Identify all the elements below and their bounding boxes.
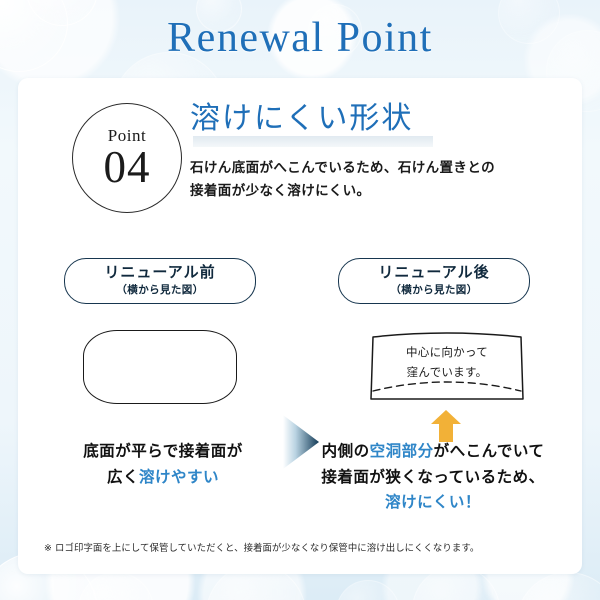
lead-line-1: 石けん底面がへこんでいるため、石けん置きとの bbox=[190, 157, 570, 181]
lead-paragraph: 石けん底面がへこんでいるため、石けん置きとの 接着面が少なく溶けにくい。 bbox=[190, 157, 570, 204]
poster-canvas: Renewal Point Point 04 溶けにくい形状 石けん底面がへこん… bbox=[0, 0, 600, 600]
label-after: リニューアル後 （横から見た図） bbox=[338, 258, 530, 304]
caption-after-plain-b: がへこんでいて bbox=[434, 441, 545, 460]
caption-before-highlight: 溶けやすい bbox=[139, 467, 219, 486]
caption-after-line-3: 溶けにくい！ bbox=[292, 489, 574, 515]
label-after-subtitle: （横から見た図） bbox=[339, 282, 529, 297]
headline-block: 溶けにくい形状 石けん底面がへこんでいるため、石けん置きとの 接着面が少なく溶け… bbox=[190, 100, 570, 204]
footnote: ※ ロゴ印字面を上にして保管していただくと、接着面が少なくなり保管中に溶け出しに… bbox=[44, 542, 564, 555]
soap-new-diagram: 中心に向かって 窪んでいます。 bbox=[369, 329, 525, 403]
label-before: リニューアル前 （横から見た図） bbox=[64, 258, 256, 304]
soap-old-diagram bbox=[83, 330, 237, 404]
caption-after-highlight: 空洞部分 bbox=[370, 441, 434, 460]
caption-before-line-2: 広く溶けやすい bbox=[40, 464, 286, 490]
caption-after: 内側の空洞部分がへこんでいて 接着面が狭くなっているため、 溶けにくい！ bbox=[292, 438, 574, 515]
caption-after-plain-a: 内側の bbox=[322, 441, 370, 460]
point-badge-word: Point bbox=[108, 127, 146, 144]
background-bubble bbox=[78, 572, 154, 600]
soap-new-note-line-2: 窪んでいます。 bbox=[369, 363, 525, 383]
label-before-subtitle: （横から見た図） bbox=[65, 282, 255, 297]
soap-new-note-line-1: 中心に向かって bbox=[369, 343, 525, 363]
headline-underline bbox=[193, 136, 433, 147]
content-card: Point 04 溶けにくい形状 石けん底面がへこんでいるため、石けん置きとの … bbox=[18, 78, 582, 574]
caption-before: 底面が平らで接着面が 広く溶けやすい bbox=[40, 438, 286, 489]
background-bubble bbox=[336, 580, 400, 600]
page-title: Renewal Point bbox=[0, 14, 600, 62]
caption-before-line-1: 底面が平らで接着面が bbox=[40, 438, 286, 464]
caption-after-line-1: 内側の空洞部分がへこんでいて bbox=[292, 438, 574, 464]
section-headline-text: 溶けにくい形状 bbox=[190, 101, 413, 136]
soap-new-note: 中心に向かって 窪んでいます。 bbox=[369, 343, 525, 382]
point-badge-number: 04 bbox=[104, 145, 151, 190]
caption-before-plain: 広く bbox=[107, 467, 139, 486]
label-after-title: リニューアル後 bbox=[339, 264, 529, 281]
label-before-title: リニューアル前 bbox=[65, 264, 255, 281]
lead-line-2: 接着面が少なく溶けにくい。 bbox=[190, 180, 570, 204]
caption-after-line-2: 接着面が狭くなっているため、 bbox=[292, 464, 574, 490]
point-badge: Point 04 bbox=[72, 103, 182, 213]
section-headline: 溶けにくい形状 bbox=[190, 100, 413, 141]
background-bubble bbox=[516, 572, 600, 600]
